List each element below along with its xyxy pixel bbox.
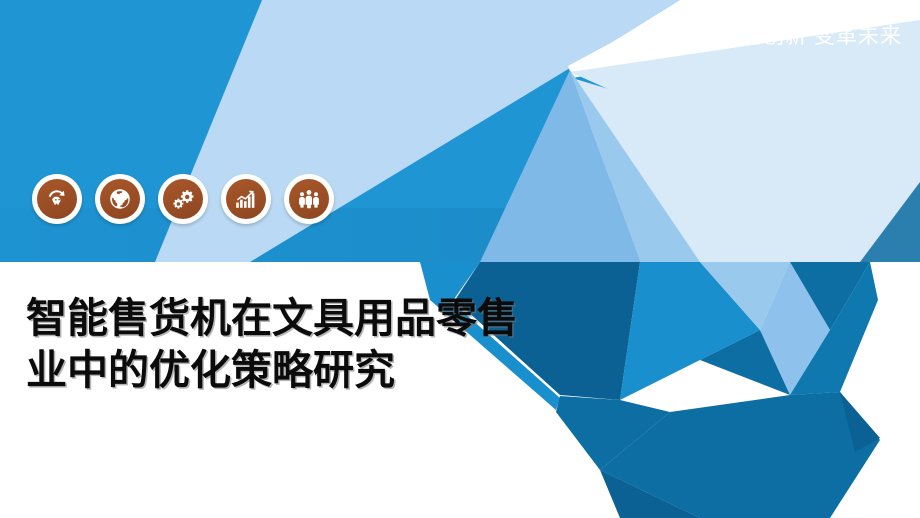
title-line-2: 业中的优化策略研究	[26, 344, 546, 396]
recycle-growth-icon	[45, 187, 69, 211]
people-group-icon	[297, 187, 321, 211]
presentation-slide: 数智创新 变革未来	[0, 0, 920, 518]
title-line-1: 智能售货机在文具用品零售	[26, 292, 546, 344]
gears-icon	[171, 187, 195, 211]
slide-title: 智能售货机在文具用品零售 业中的优化策略研究	[26, 292, 546, 397]
icon-disc-4	[226, 179, 266, 219]
icon-badge-5[interactable]	[284, 174, 334, 224]
bar-chart-icon	[234, 187, 258, 211]
slide-tagline: 数智创新 变革未来	[719, 26, 902, 47]
icon-badge-3[interactable]	[158, 174, 208, 224]
icon-disc-5	[289, 179, 329, 219]
icon-badge-2[interactable]	[95, 174, 145, 224]
icon-disc-1	[37, 179, 77, 219]
low-poly-background	[0, 0, 920, 518]
icon-badge-4[interactable]	[221, 174, 271, 224]
icon-disc-3	[163, 179, 203, 219]
icon-disc-2	[100, 179, 140, 219]
icon-badge-row	[32, 174, 334, 224]
icon-badge-1[interactable]	[32, 174, 82, 224]
globe-icon	[108, 187, 132, 211]
